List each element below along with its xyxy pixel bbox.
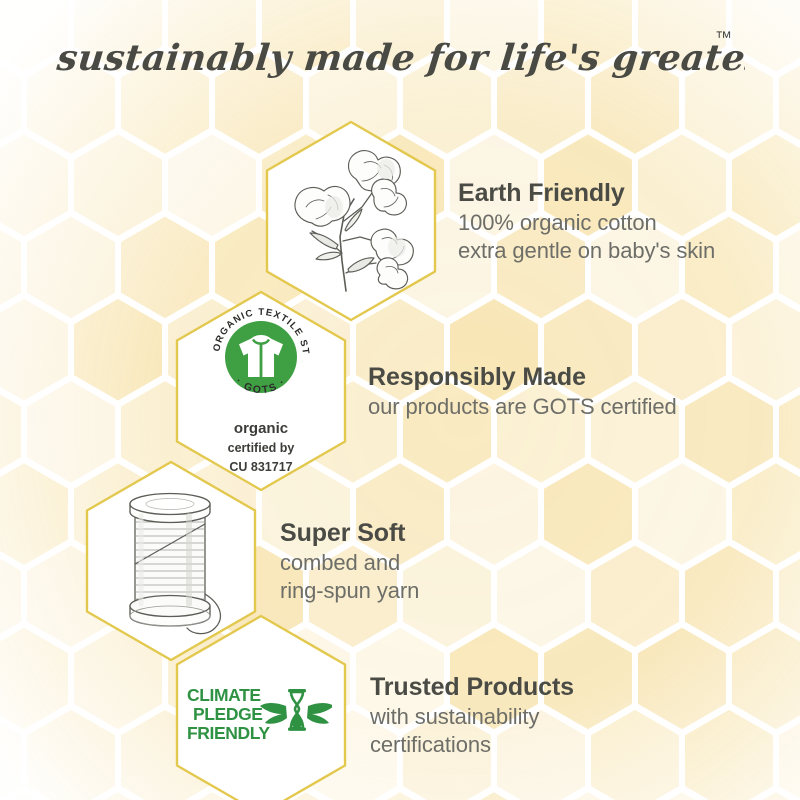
honeycomb-cell (27, 217, 115, 319)
hex-card-trusted-products: CLIMATE PLEDGE FRIENDLY (168, 612, 354, 800)
honeycomb-cell (0, 299, 68, 401)
feature-desc-line: combed and (280, 549, 419, 577)
gots-organic-label: organic (234, 420, 288, 437)
honeycomb-cell (685, 546, 773, 648)
tagline-text: sustainably made for life's greatest joy (55, 36, 745, 79)
feature-desc-line: extra gentle on baby's skin (458, 237, 715, 265)
cpf-line-1: CLIMATE (187, 685, 261, 705)
feature-title: Super Soft (280, 517, 419, 549)
feature-trusted-products: CLIMATE PLEDGE FRIENDLY (168, 612, 574, 800)
feature-text-earth-friendly: Earth Friendly 100% organic cotton extra… (458, 177, 715, 265)
honeycomb-cell (732, 134, 800, 236)
feature-desc-line: 100% organic cotton (458, 209, 715, 237)
honeycomb-cell (0, 463, 68, 565)
cotton-branch-icon (276, 141, 426, 301)
feature-desc-line: ring-spun yarn (280, 577, 419, 605)
gots-certification-icon: GLOBAL ORGANIC TEXTILE STANDARD · GOTS ·… (203, 299, 319, 475)
honeycomb-cell (732, 463, 800, 565)
climate-pledge-friendly-icon: CLIMATE PLEDGE FRIENDLY (186, 678, 332, 752)
honeycomb-cell (732, 299, 800, 401)
trademark-symbol: ™ (715, 28, 732, 47)
honeycomb-cell (591, 546, 679, 648)
honeycomb-cell (685, 710, 773, 800)
tagline-artwork: sustainably made for life's greatest joy… (55, 23, 745, 93)
cpf-line-3: FRIENDLY (187, 723, 270, 743)
honeycomb-cell (27, 710, 115, 800)
feature-title: Responsibly Made (368, 361, 677, 393)
honeycomb-cell (591, 710, 679, 800)
feature-title: Trusted Products (370, 671, 574, 703)
feature-desc-line: certifications (370, 731, 574, 759)
feature-text-super-soft: Super Soft combed and ring-spun yarn (280, 517, 419, 605)
cpf-line-2: PLEDGE (193, 704, 263, 724)
honeycomb-cell (168, 134, 256, 236)
honeycomb-cell (74, 134, 162, 236)
feature-text-trusted-products: Trusted Products with sustainability cer… (370, 671, 574, 759)
gots-certified-by-label: certified by (228, 440, 295, 456)
feature-text-responsibly-made: Responsibly Made our products are GOTS c… (368, 361, 677, 421)
feature-title: Earth Friendly (458, 177, 715, 209)
honeycomb-cell (74, 299, 162, 401)
climate-pledge-artwork: CLIMATE PLEDGE FRIENDLY (186, 678, 332, 752)
honeycomb-cell (732, 628, 800, 730)
honeycomb-cell (685, 381, 773, 483)
honeycomb-cell (0, 134, 68, 236)
feature-desc-line: with sustainability (370, 703, 574, 731)
cpf-winged-hourglass (260, 689, 332, 731)
tagline-banner: sustainably made for life's greatest joy… (0, 22, 800, 94)
honeycomb-cell (638, 628, 726, 730)
infographic-canvas: sustainably made for life's greatest joy… (0, 0, 800, 800)
honeycomb-cell (0, 628, 68, 730)
feature-desc-line: our products are GOTS certified (368, 393, 677, 421)
gots-seal-icon: GLOBAL ORGANIC TEXTILE STANDARD · GOTS · (203, 299, 319, 415)
